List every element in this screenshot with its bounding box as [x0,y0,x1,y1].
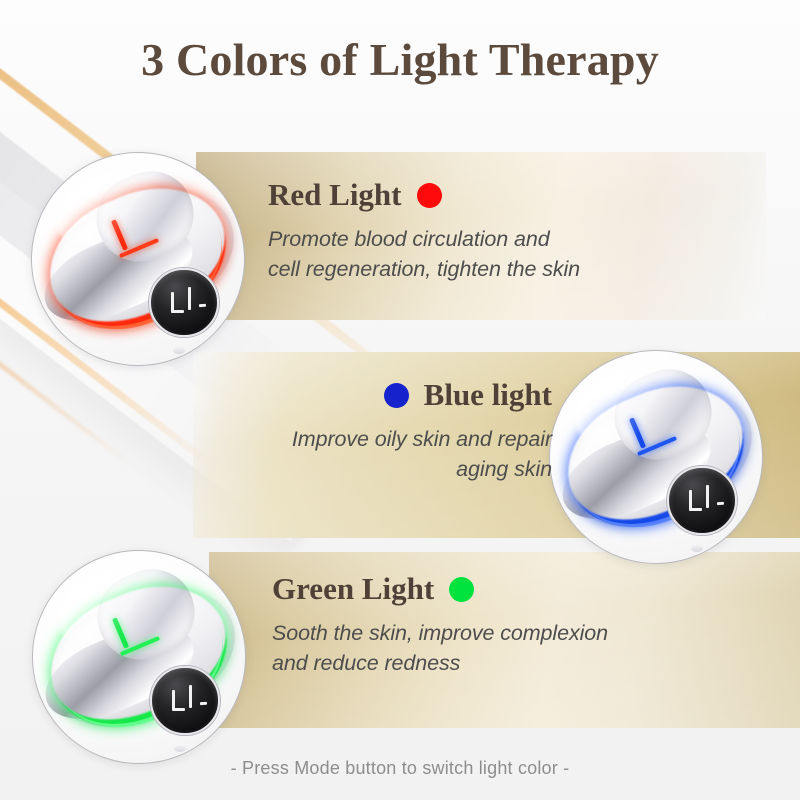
section-heading-label-red: Red Light [268,178,402,212]
section-heading-label-blue: Blue light [424,378,552,412]
infographic-poster: 3 Colors of Light Therapy Red Light [0,0,800,800]
color-dot-red [417,183,442,208]
product-photo-blue-light [549,350,763,564]
section-heading-green: Green Light [272,572,608,606]
display-segment [689,490,692,510]
product-photo-green-light [32,550,246,764]
display-segment [172,690,175,710]
color-dot-blue [384,383,409,408]
footer-note: - Press Mode button to switch light colo… [0,758,800,779]
section-description-red: Promote blood circulation and cell regen… [268,225,580,284]
display-segment [172,708,185,711]
display-segment [717,502,724,505]
display-segment [200,702,207,705]
section-heading-label-green: Green Light [272,572,434,606]
display-segment [171,292,174,312]
color-dot-green [449,577,474,602]
display-segment [188,287,191,311]
product-photo-red-light [31,152,245,366]
device-mode-button [173,347,185,354]
device-display-screen [149,268,219,338]
device-display-screen [667,466,737,536]
display-segment [199,304,206,307]
display-segment [189,685,192,709]
section-description-green: Sooth the skin, improve complexion and r… [272,619,608,678]
device-illustration-red [32,153,244,365]
device-illustration-green [33,551,245,763]
section-heading-red: Red Light [268,178,580,212]
device-illustration-blue [550,351,762,563]
display-segment [171,310,184,313]
device-mode-button [174,745,186,752]
section-description-blue: Improve oily skin and repair aging skin [160,425,552,484]
section-heading-blue: Blue light [160,378,552,412]
display-segment [689,508,702,511]
section-text-green: Green Light Sooth the skin, improve comp… [272,572,608,678]
device-mode-button [691,545,703,552]
section-text-blue: Blue light Improve oily skin and repair … [160,378,552,484]
display-segment [706,485,709,509]
device-display-screen [150,666,220,736]
page-title: 3 Colors of Light Therapy [0,33,800,86]
section-text-red: Red Light Promote blood circulation and … [268,178,580,284]
